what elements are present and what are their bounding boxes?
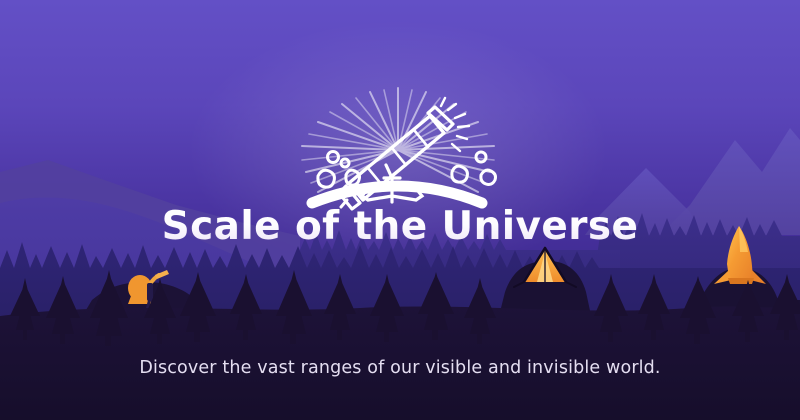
page-subtitle-text: Discover the vast ranges of our visible … (139, 356, 660, 380)
page-subtitle: Discover the vast ranges of our visible … (0, 356, 800, 380)
page-title: Scale of the Universe (0, 205, 800, 249)
page-title-text: Scale of the Universe (162, 205, 639, 249)
hero-banner: Scale of the Universe Discover the vast … (0, 0, 800, 420)
